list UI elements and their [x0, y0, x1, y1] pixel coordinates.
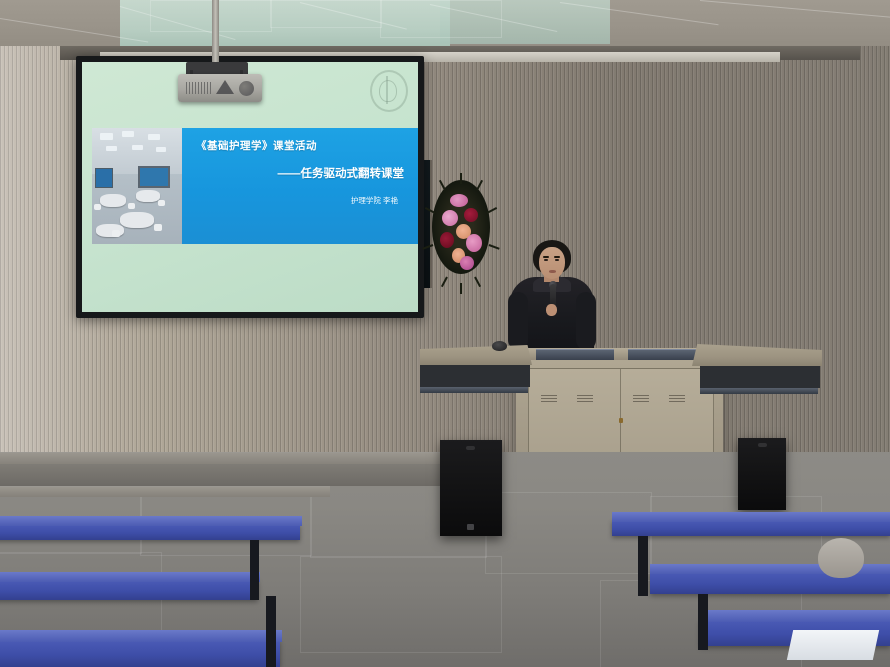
- projector-vent: [186, 82, 212, 94]
- floor-speaker-right: [738, 438, 786, 510]
- lectern-lock[interactable]: [619, 418, 623, 423]
- step-riser: [0, 486, 330, 497]
- photo-chair: [128, 203, 135, 209]
- instructor-eye: [555, 259, 559, 261]
- lectern-vent: [541, 395, 557, 403]
- photo-chair: [94, 204, 101, 210]
- wreath-spike: [460, 173, 462, 184]
- photo-round-table: [136, 190, 160, 202]
- projector-badge: [216, 80, 234, 94]
- lectern-wing-left-rail[interactable]: [420, 387, 528, 393]
- speaker-logo: [467, 524, 474, 530]
- wreath-flower-red: [464, 208, 478, 222]
- wreath-flower-pink: [450, 194, 468, 207]
- lectern-vent: [669, 395, 685, 403]
- speaker-port: [466, 446, 475, 450]
- lecture-desk: [0, 580, 258, 600]
- ceiling-panel: [270, 0, 382, 28]
- lecture-desk: [0, 640, 280, 667]
- instructor-brow: [543, 256, 549, 258]
- desk-leg: [638, 536, 648, 596]
- photo-ceiling-light: [156, 147, 166, 152]
- lecture-desk-top: [0, 630, 282, 642]
- projector-icon: [178, 74, 262, 102]
- lectern-drawer-rail-left[interactable]: [536, 349, 614, 360]
- wreath-flower-pink: [466, 234, 482, 252]
- photo-ceiling-light: [148, 134, 160, 140]
- ceiling-panel: [150, 0, 272, 32]
- desk-leg: [266, 596, 276, 667]
- slide-author-line: 护理学院 李艳: [196, 195, 406, 206]
- lecture-desk-top: [700, 610, 890, 622]
- slide-classroom-photo: [92, 128, 182, 244]
- photo-chair: [112, 230, 120, 237]
- step-riser-face: [0, 464, 470, 486]
- slide-content-band: 《基础护理学》课堂活动 ——任务驱动式翻转课堂 护理学院 李艳: [92, 128, 418, 244]
- photo-ceiling-light: [122, 131, 134, 137]
- photo-wall-monitor: [95, 168, 113, 188]
- photo-ceiling-light: [100, 133, 113, 140]
- speaker-port: [758, 443, 767, 447]
- photo-chair: [158, 200, 165, 206]
- wreath-flower-pink: [460, 256, 474, 270]
- ceiling-seam: [700, 0, 890, 18]
- instructor-eye: [544, 259, 548, 261]
- wreath-spike: [476, 180, 483, 191]
- paper-notebook: [787, 630, 879, 660]
- photo-round-table: [100, 194, 126, 207]
- instructor-face: [539, 247, 565, 279]
- lectern-wing-left-recess: [420, 365, 530, 387]
- slide-subtitle-line: ——任务驱动式翻转课堂: [196, 165, 406, 181]
- lecture-desk: [0, 524, 300, 540]
- grey-bag: [818, 538, 864, 578]
- instructor-arm-left: [508, 292, 528, 350]
- projector-mount-pole: [212, 0, 219, 70]
- floor-speaker-left: [440, 440, 502, 536]
- desk-leg: [698, 594, 708, 650]
- lecture-desk-top: [0, 572, 260, 582]
- wreath-flower-pink: [442, 210, 458, 226]
- instructor-mouth: [549, 270, 556, 273]
- slide-title-line: 《基础护理学》课堂活动: [196, 138, 406, 153]
- wreath-spike: [460, 283, 462, 294]
- floral-wreath-decor: [432, 180, 490, 274]
- lectern-wing-right-rail[interactable]: [700, 388, 818, 394]
- lecture-desk: [612, 520, 890, 536]
- lecture-desk-top: [612, 512, 890, 522]
- computer-mouse-icon[interactable]: [492, 341, 507, 351]
- ceiling-panel: [380, 0, 502, 38]
- instructor-brow: [554, 256, 560, 258]
- photo-ceiling-light: [132, 145, 143, 150]
- photo-ceiling-light: [106, 146, 117, 151]
- lectern-vent: [577, 395, 593, 403]
- lecture-desk-top: [0, 516, 302, 526]
- wreath-spike: [439, 180, 446, 191]
- lectern-wing-right-recess: [700, 366, 820, 388]
- instructor-arm-right: [576, 292, 596, 350]
- floor-tile: [300, 556, 502, 653]
- university-seal-icon: [370, 70, 408, 112]
- slide-text-block: 《基础护理学》课堂活动 ——任务驱动式翻转课堂 护理学院 李艳: [182, 128, 418, 244]
- desk-leg: [250, 540, 259, 600]
- projector-lens: [239, 81, 254, 96]
- photo-chair: [154, 224, 162, 231]
- wreath-flower-red: [440, 232, 454, 248]
- photo-round-table: [120, 212, 154, 228]
- classroom-photo-scene: 《基础护理学》课堂活动 ——任务驱动式翻转课堂 护理学院 李艳: [0, 0, 890, 667]
- instructor-hand: [546, 304, 557, 316]
- instructor-figure: [506, 240, 598, 360]
- lectern-vent: [633, 395, 649, 403]
- photo-smartboard: [138, 166, 170, 188]
